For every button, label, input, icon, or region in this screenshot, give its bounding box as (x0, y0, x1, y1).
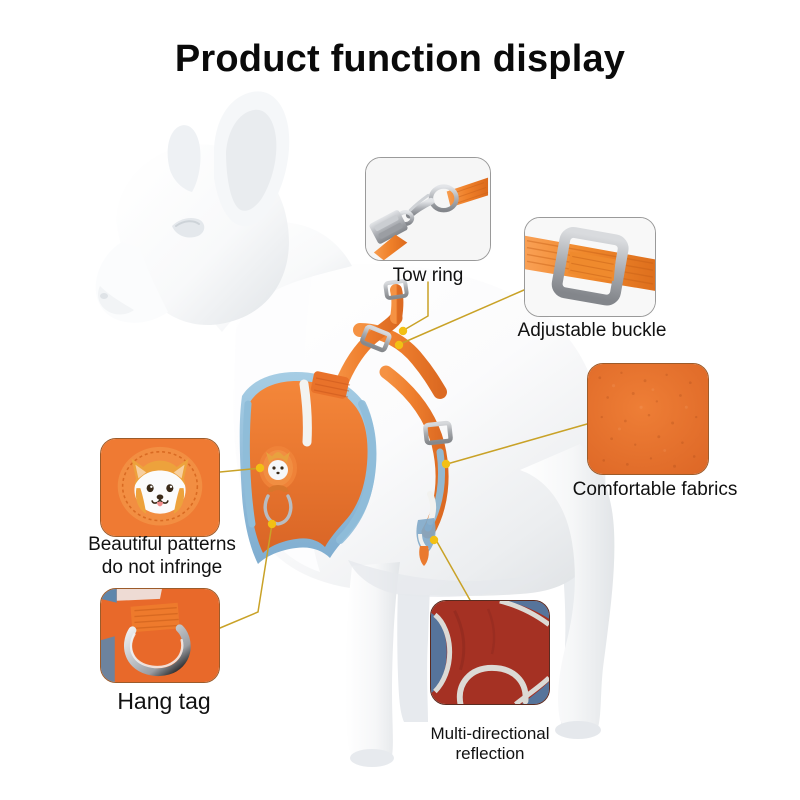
tow-ring-label: Tow ring (352, 265, 504, 287)
tow-ring-thumbnail[interactable] (365, 157, 491, 261)
adjustable-buckle-label: Adjustable buckle (492, 320, 692, 342)
corgi-patch-icon (101, 439, 219, 536)
corgi-patch-on-product (259, 446, 297, 490)
reflective-strip-icon (431, 601, 549, 704)
reflection-thumbnail[interactable] (430, 600, 550, 705)
reflection-label: Multi-directional reflection (412, 724, 568, 765)
hang-tag-label: Hang tag (80, 688, 248, 715)
comfortable-fabrics-label: Comfortable fabrics (548, 479, 762, 501)
beautiful-patterns-label-line1: Beautiful patterns (78, 534, 246, 557)
reflection-label-line1: Multi-directional (412, 724, 568, 744)
adjustable-buckle-thumbnail[interactable] (524, 217, 656, 317)
beautiful-patterns-label-line2: do not infringe (78, 557, 246, 580)
d-ring-icon (101, 589, 219, 682)
beautiful-patterns-thumbnail[interactable] (100, 438, 220, 537)
slider-buckle-icon (525, 218, 655, 316)
carabiner-clasp-icon (366, 158, 490, 260)
fabric-swatch-icon (588, 364, 708, 474)
hang-tag-thumbnail[interactable] (100, 588, 220, 683)
comfortable-fabrics-thumbnail[interactable] (587, 363, 709, 475)
infographic-canvas: Product function display (0, 0, 800, 800)
reflection-label-line2: reflection (412, 744, 568, 764)
beautiful-patterns-label: Beautiful patterns do not infringe (78, 534, 246, 580)
